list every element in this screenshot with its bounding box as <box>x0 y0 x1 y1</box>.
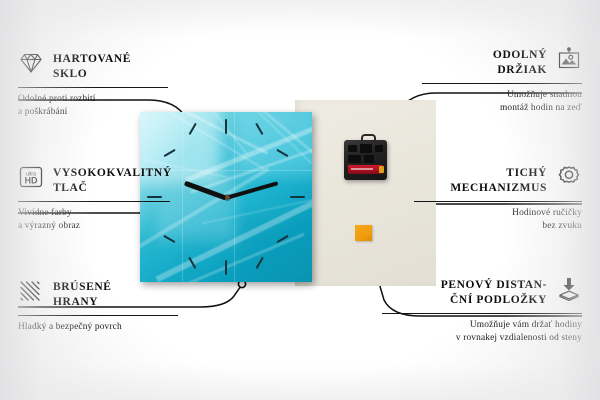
feature-description: Vivídne farby a výrazný obraz <box>18 207 170 233</box>
divider <box>18 87 168 88</box>
divider <box>414 201 582 202</box>
feature-desc-line: v rovnakej vzdialenosti od steny <box>382 332 582 345</box>
divider <box>18 315 178 316</box>
infographic-canvas: HARTOVANÉ SKLO Odolné proti rozbití a po… <box>0 0 600 400</box>
feature-desc-line: a výrazný obraz <box>18 220 170 233</box>
picture-frame-icon <box>556 46 582 72</box>
feature-description: Hodinové ručičky bez zvuku <box>414 207 582 233</box>
mechanism-detail <box>348 145 357 152</box>
clock-tick-3 <box>290 196 305 198</box>
feature-description: Umožňuje snadnou montáž hodin na zeď <box>422 89 582 115</box>
feature-description: Umožňuje vám držať hodiny v rovnakej vzd… <box>382 319 582 345</box>
feature-title: VYSOKOKVALITNÝ TLAČ <box>53 166 172 196</box>
feature-title: TICHÝ MECHANIZMUS <box>450 166 547 196</box>
feature-silent-mechanism[interactable]: TICHÝ MECHANIZMUS Hodinové ručičky bez z… <box>414 166 582 233</box>
feature-header: ultra HD VYSOKOKVALITNÝ TLAČ <box>18 166 170 196</box>
diamond-icon <box>18 50 44 76</box>
feature-desc-line: bez zvuku <box>414 220 582 233</box>
clock-tick-12 <box>225 119 227 134</box>
feature-header: BRÚSENÉ HRANY <box>18 280 178 310</box>
feature-desc-line: Umožňuje snadnou <box>422 89 582 102</box>
feature-foam-spacers[interactable]: PENOVÝ DISTAN- ČNÍ PODLOŽKY Umožňuje vám… <box>382 278 582 345</box>
feature-desc-line: Umožňuje vám držať hodiny <box>382 319 582 332</box>
feature-desc-line: montáž hodin na zeď <box>422 102 582 115</box>
feature-title-line: BRÚSENÉ <box>53 280 112 295</box>
clock-center-pivot <box>225 195 230 200</box>
svg-text:HD: HD <box>25 176 38 186</box>
feature-desc-line: a poškrábání <box>18 106 168 119</box>
mechanism-detail <box>348 155 361 163</box>
feature-title-line: ODOLNÝ <box>493 48 547 63</box>
divider <box>18 201 170 202</box>
clock-tick-6 <box>225 260 227 275</box>
feature-polished-edges[interactable]: BRÚSENÉ HRANY Hladký a bezpečný povrch <box>18 280 178 334</box>
feature-title-line: VYSOKOKVALITNÝ <box>53 166 172 181</box>
feature-high-quality-print[interactable]: ultra HD VYSOKOKVALITNÝ TLAČ Vivídne far… <box>18 166 170 233</box>
feature-title-line: TLAČ <box>53 181 172 196</box>
clock-mechanism <box>344 140 387 180</box>
feature-title-line: ČNÍ PODLOŽKY <box>441 293 547 308</box>
feature-desc-line: Hladký a bezpečný povrch <box>18 321 178 334</box>
battery-label-stripe <box>351 168 373 170</box>
ultra-hd-icon: ultra HD <box>18 164 44 190</box>
feature-title-line: SKLO <box>53 67 131 82</box>
mechanism-detail <box>364 155 374 163</box>
feature-title: ODOLNÝ DRŽIAK <box>493 48 547 78</box>
feature-title-line: MECHANIZMUS <box>450 181 547 196</box>
feature-header: TICHÝ MECHANIZMUS <box>414 166 582 196</box>
feature-title-line: HARTOVANÉ <box>53 52 131 67</box>
feature-description: Odolné proti rozbití a poškrábání <box>18 93 168 119</box>
mechanism-hanger-hook <box>361 134 376 144</box>
feature-header: HARTOVANÉ SKLO <box>18 52 168 82</box>
divider <box>382 313 582 314</box>
feature-title-line: DRŽIAK <box>493 63 547 78</box>
feature-description: Hladký a bezpečný povrch <box>18 321 178 334</box>
feature-header: ODOLNÝ DRŽIAK <box>422 48 582 78</box>
feature-title: PENOVÝ DISTAN- ČNÍ PODLOŽKY <box>441 278 547 308</box>
battery-terminal <box>379 166 384 173</box>
feature-desc-line: Vivídne farby <box>18 207 170 220</box>
feature-title: BRÚSENÉ HRANY <box>53 280 112 310</box>
feature-title-line: HRANY <box>53 295 112 310</box>
divider <box>422 83 582 84</box>
glass-reflection-line <box>182 112 183 282</box>
gear-icon <box>556 164 582 190</box>
feature-header: PENOVÝ DISTAN- ČNÍ PODLOŽKY <box>382 278 582 308</box>
feature-hardened-glass[interactable]: HARTOVANÉ SKLO Odolné proti rozbití a po… <box>18 52 168 119</box>
feature-title-line: TICHÝ <box>450 166 547 181</box>
product-photo <box>140 100 436 290</box>
brushed-edge-icon <box>18 278 44 304</box>
feature-desc-line: Hodinové ručičky <box>414 207 582 220</box>
feature-desc-line: Odolné proti rozbití <box>18 93 168 106</box>
mechanism-detail <box>375 145 383 152</box>
foam-spacer-pad <box>355 225 372 241</box>
mechanism-detail <box>360 144 372 153</box>
feature-durable-hanger[interactable]: ODOLNÝ DRŽIAK Umožňuje snadnou montáž ho… <box>422 48 582 115</box>
feature-title: HARTOVANÉ SKLO <box>53 52 131 82</box>
foam-spacer-icon <box>556 276 582 302</box>
feature-title-line: PENOVÝ DISTAN- <box>441 278 547 293</box>
